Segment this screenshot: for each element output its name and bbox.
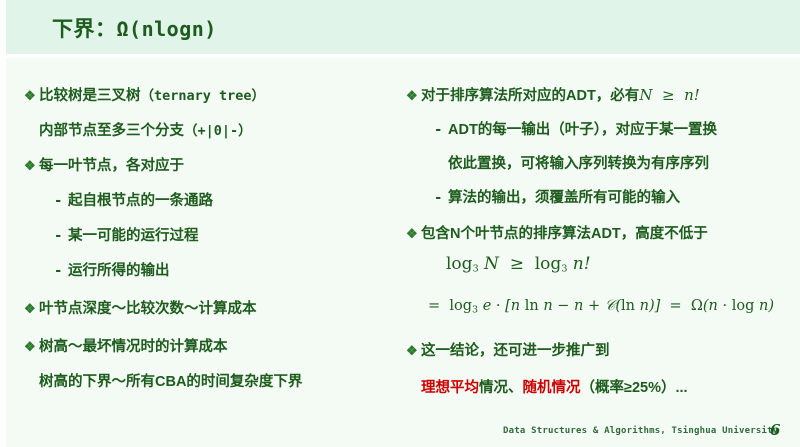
highlight-text-2: 情况、: [479, 376, 523, 397]
list-item-label: 树高～最坏情况时的计算成本: [39, 335, 228, 356]
slide-footer: Data Structures & Algorithms, Tsinghua U…: [0, 418, 800, 447]
diamond-bullet-icon: ❖: [406, 344, 421, 357]
page-title-prefix: 下界：: [52, 18, 117, 41]
diamond-bullet-icon: ❖: [24, 89, 39, 102]
list-item-label: 叶节点深度～比较次数～计算成本: [39, 297, 257, 318]
highlight-text-4: （概率≥25%）...: [581, 376, 688, 397]
list-item-label: 某一可能的运行过程: [68, 224, 199, 245]
list-item-label: 运行所得的输出: [68, 259, 170, 280]
list-item-label: 树高的下界～所有CBA的时间复杂度下界: [39, 370, 302, 391]
diamond-bullet-icon: ❖: [406, 227, 421, 240]
list-item-label: 每一叶节点，各对应于: [39, 154, 184, 175]
page-number: 6: [770, 421, 780, 439]
list-item: ❖ 这一结论，还可进一步推广到: [406, 339, 610, 360]
left-accent-gutter: [0, 0, 6, 447]
list-item-label: 起自根节点的一条通路: [68, 189, 213, 210]
list-item-label: 这一结论，还可进一步推广到: [421, 339, 610, 360]
formula-log-inequality: log3 N ≥ log3 n!: [446, 254, 591, 275]
slide: 下界：Ω(nlogn) ❖ 比较树是三叉树 （ternary tree） 内部节…: [0, 0, 800, 447]
diamond-bullet-icon: ❖: [24, 302, 39, 315]
list-item: 内部节点至多三个分支 （+|0|-）: [39, 119, 252, 140]
list-item: - 运行所得的输出: [54, 259, 170, 280]
list-item: ❖ 包含N个叶节点的排序算法ADT，高度不低于: [406, 222, 708, 243]
list-item-label: ADT的每一输出（叶子），对应于某一置换: [448, 118, 717, 139]
list-item: ❖ 树高～最坏情况时的计算成本: [24, 335, 228, 356]
list-item: - 起自根节点的一条通路: [54, 189, 213, 210]
footer-credit: Data Structures & Algorithms, Tsinghua U…: [503, 426, 778, 436]
list-item-label: 包含N个叶节点的排序算法ADT，高度不低于: [421, 222, 708, 243]
dash-marker-icon: -: [434, 190, 448, 206]
page-title-formula: Ω(nlogn): [117, 17, 217, 41]
list-item: - 算法的输出，须覆盖所有可能的输入: [434, 186, 680, 207]
highlight-text-3: 随机情况: [523, 376, 581, 397]
list-item: ❖ 对于排序算法所对应的ADT，必有 N ≥ n!: [406, 84, 700, 105]
list-item-label: 对于排序算法所对应的ADT，必有: [421, 84, 639, 105]
list-item: 树高的下界～所有CBA的时间复杂度下界: [39, 370, 302, 391]
diamond-bullet-icon: ❖: [24, 159, 39, 172]
list-item-mono: （ternary tree）: [141, 84, 266, 104]
dash-marker-icon: -: [54, 193, 68, 209]
list-item-label: 内部节点至多三个分支: [39, 119, 184, 140]
list-item: - ADT的每一输出（叶子），对应于某一置换: [434, 118, 717, 139]
dash-marker-icon: -: [434, 122, 448, 138]
formula-expansion: = log3 e · [n ln n − n + 𝒞(ln n)] = Ω(n …: [428, 297, 774, 316]
list-item-label: 依此置换，可将输入序列转换为有序序列: [448, 152, 709, 173]
dash-marker-icon: -: [54, 263, 68, 279]
inline-formula: N ≥ n!: [639, 86, 699, 104]
list-item: - 某一可能的运行过程: [54, 224, 199, 245]
list-item-highlight: 理想平均 情况、 随机情况 （概率≥25%）...: [421, 376, 688, 397]
highlight-text-1: 理想平均: [421, 376, 479, 397]
list-item: ❖ 叶节点深度～比较次数～计算成本: [24, 297, 257, 318]
list-item-mono: （+|0|-）: [184, 119, 252, 139]
list-item: 依此置换，可将输入序列转换为有序序列: [448, 152, 709, 173]
page-title: 下界：Ω(nlogn): [52, 13, 217, 43]
list-item-label: 比较树是三叉树: [39, 84, 141, 105]
list-item: ❖ 比较树是三叉树 （ternary tree）: [24, 84, 265, 105]
diamond-bullet-icon: ❖: [406, 89, 421, 102]
dash-marker-icon: -: [54, 228, 68, 244]
list-item-label: 算法的输出，须覆盖所有可能的输入: [448, 186, 680, 207]
list-item: ❖ 每一叶节点，各对应于: [24, 154, 184, 175]
diamond-bullet-icon: ❖: [24, 340, 39, 353]
slide-body: ❖ 比较树是三叉树 （ternary tree） 内部节点至多三个分支 （+|0…: [6, 58, 800, 413]
